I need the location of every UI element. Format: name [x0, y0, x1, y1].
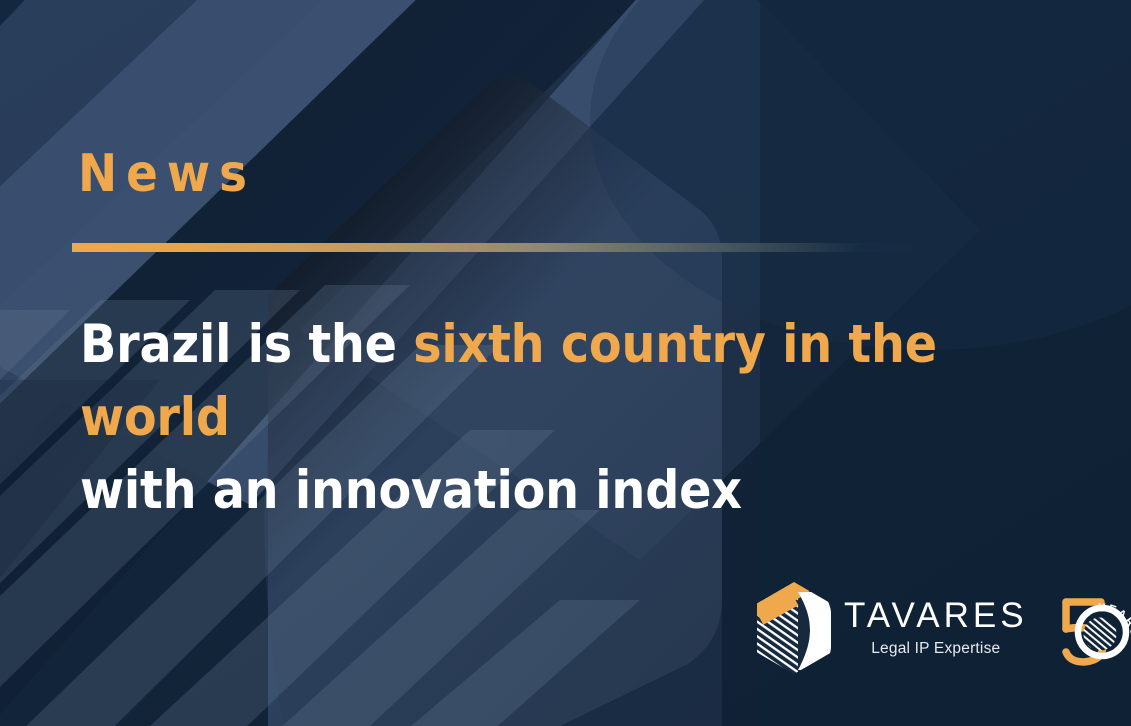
news-card: News Brazil is the sixth country in the …: [0, 0, 1131, 726]
logo-brand-name: TAVARES: [844, 598, 1028, 635]
gold-divider-rule: [72, 243, 927, 252]
headline-plain-start: Brazil is the: [80, 314, 413, 375]
card-content: News Brazil is the sixth country in the …: [0, 0, 1131, 726]
headline: Brazil is the sixth country in the world…: [80, 308, 980, 527]
tavares-wordmark: TAVARES Legal IP Expertise: [844, 598, 1028, 658]
brand-logo-lockup[interactable]: TAVARES Legal IP Expertise: [752, 580, 1131, 676]
eyebrow-label: News: [78, 148, 256, 200]
tavares-hexagon-icon: [752, 580, 836, 676]
headline-line-two: with an innovation index: [80, 460, 742, 521]
fifty-years-badge-icon: YEARS: [1044, 582, 1131, 674]
logo-tagline: Legal IP Expertise: [871, 640, 1000, 658]
